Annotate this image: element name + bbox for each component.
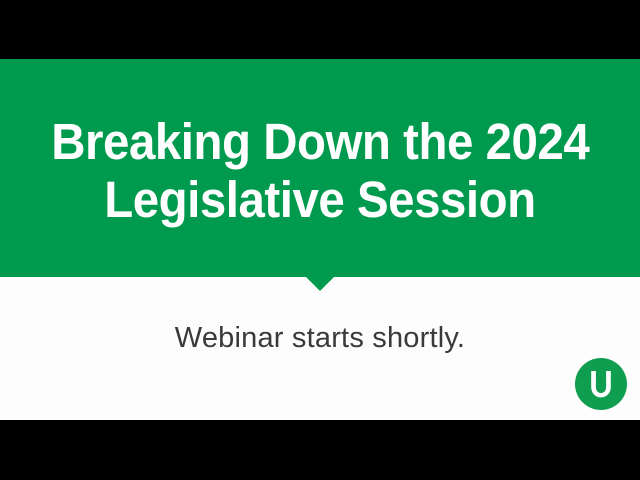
- slide-content-area: Breaking Down the 2024 Legislative Sessi…: [0, 59, 640, 420]
- u-logo-glyph: [575, 358, 627, 410]
- letterbox-bar-top: [0, 0, 640, 59]
- webinar-holding-slide: Breaking Down the 2024 Legislative Sessi…: [0, 0, 640, 480]
- u-logo-icon: [575, 358, 627, 410]
- letterbox-bar-bottom: [0, 420, 640, 480]
- subtitle-text: Webinar starts shortly.: [0, 321, 640, 355]
- title-line-1: Breaking Down the 2024: [51, 113, 589, 171]
- title-block: Breaking Down the 2024 Legislative Sessi…: [0, 59, 640, 277]
- title-line-2: Legislative Session: [104, 171, 535, 229]
- banner-notch-triangle: [306, 277, 334, 291]
